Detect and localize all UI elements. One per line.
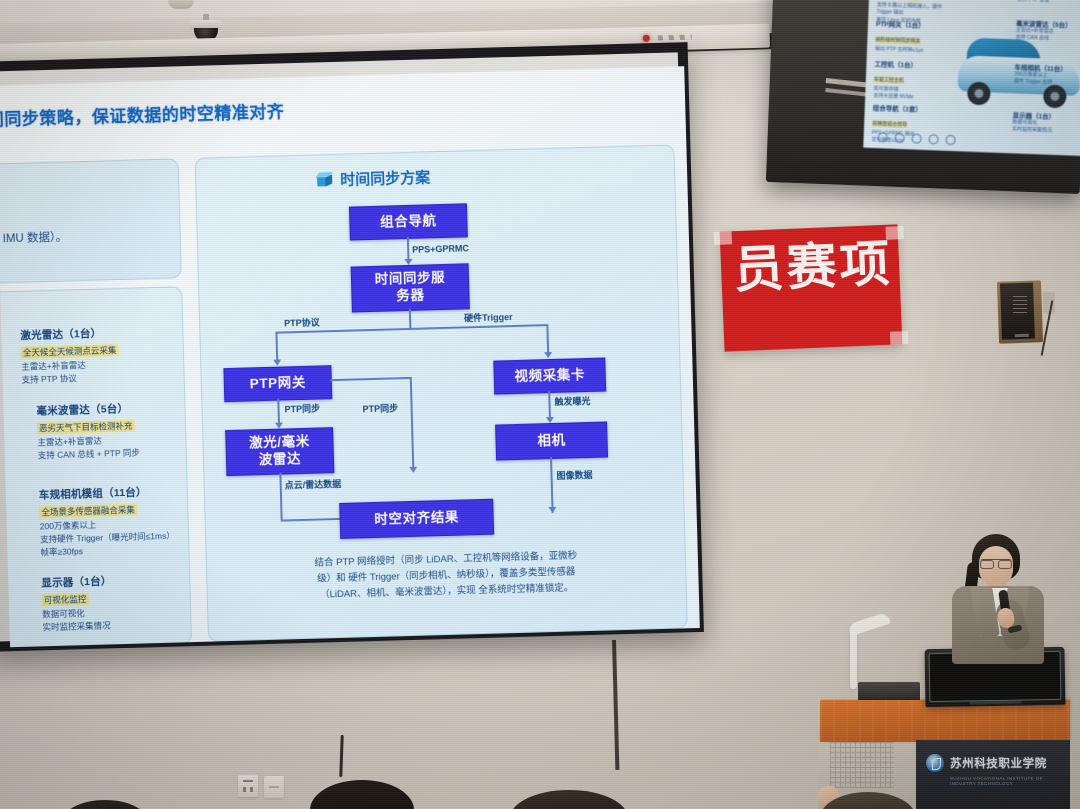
- edge-label-hardware-trigger: 硬件Trigger: [464, 310, 513, 324]
- node-video-capture-card: 视频采集卡: [493, 357, 606, 394]
- block-line: 实时监控采集情况: [1012, 127, 1080, 137]
- toolbar-icon-2[interactable]: [894, 133, 904, 143]
- swirl-logo-icon: [926, 754, 944, 772]
- node-camera: 相机: [495, 421, 608, 460]
- edge-label-trigger-exposure: 触发曝光: [554, 394, 590, 408]
- arrow-down: [544, 352, 552, 358]
- block-highlight: 纳秒级时钟同步网关: [875, 36, 920, 45]
- institution-logo-group: 苏州科技职业学院: [926, 754, 1047, 772]
- edge-label-ptp-sync-left: PTP同步: [284, 401, 320, 415]
- block-line: 支持 PTP 协议: [1017, 0, 1080, 7]
- edge-label-ptp-protocol: PTP协议: [284, 315, 320, 329]
- panel-vehicle-config: 车配置方案 激光雷达（1台） 全天候全天候测点云: [0, 286, 192, 647]
- wall-vent: [1013, 295, 1027, 313]
- wall-display: 边缘计算服务器（1台） 高算力边缘计算平台 支持 8 路以上相机接入，硬件 Tr…: [766, 0, 1080, 194]
- slide-title: 车配置与时间同步策略，保证数据的时空精准对齐: [0, 92, 459, 133]
- spec-highlight: 恶劣天气下目标检测补充: [37, 420, 135, 435]
- display-block-mmwave: 毫米波雷达（5台） 主雷达+补盲雷达 支持 CAN 总线: [1015, 17, 1080, 44]
- display-block-monitor: 显示器（1台） 数据可视化 实时监控采集情况: [1012, 109, 1080, 136]
- block-line: 输出 PTP 主时钟≤1μs: [875, 46, 947, 56]
- node-ptp-gateway: PTP网关: [223, 365, 332, 402]
- spec-camera-module: 车规相机模组（11台） 全场景多传感器融合采集 200万像素以上 支持硬件 Tr…: [39, 483, 191, 558]
- display-wheel-front: [967, 82, 991, 106]
- edge-lidar-down: [279, 473, 282, 521]
- edge-server-down: [409, 309, 411, 329]
- sync-heading: 时间同步方案: [316, 166, 431, 190]
- podium-front-panel: 苏州科技职业学院 SUZHOU VOCATIONAL INSTITUTE OF …: [916, 740, 1070, 809]
- toolbar-icon-3[interactable]: [911, 133, 921, 143]
- scenario-line-2: 点云、图像、毫米波、IMU 数据）。: [0, 225, 174, 254]
- edge-lidar-to-result: [281, 518, 341, 521]
- presentation-slide: 车配置与时间同步策略，保证数据的时空精准对齐 用场景 botaxi、无人配送车）…: [0, 66, 700, 647]
- institution-name: 苏州科技职业学院: [950, 755, 1047, 771]
- spec-highlight: 可视化监控: [42, 593, 89, 606]
- block-highlight: 车载工控主机: [874, 76, 904, 84]
- banner-tape-bottom: [890, 331, 909, 345]
- spec-highlight: 全场景多传感器融合采集: [39, 504, 137, 519]
- edge-label-image-data: 图像数据: [556, 468, 592, 482]
- panel-application-scenario: 用场景 botaxi、无人配送车）； 点云、图像、毫米波、IMU 数据）。: [0, 158, 182, 286]
- node-lidar-mmwave: 激光/毫米 波雷达: [225, 427, 334, 476]
- screenshot-root: 车配置与时间同步策略，保证数据的时空精准对齐 用场景 botaxi、无人配送车）…: [0, 0, 1080, 809]
- banner-text: 员赛项: [712, 238, 914, 296]
- toolbar-icon-5[interactable]: [945, 135, 955, 145]
- power-outlet: [238, 775, 258, 797]
- arrow-down: [409, 467, 417, 473]
- banner-tape-right: [886, 226, 905, 240]
- edge-label-pointcloud-radar: 点云/雷达数据: [285, 477, 342, 492]
- projection-screen: 车配置与时间同步策略，保证数据的时空精准对齐 用场景 botaxi、无人配送车）…: [0, 42, 704, 652]
- cube-icon: [316, 171, 333, 188]
- edge-camera-down: [550, 457, 553, 513]
- block-highlight: 高精度组合惯导: [872, 120, 907, 128]
- red-banner: 员赛项: [720, 224, 903, 351]
- node-time-sync-server: 时间同步服 务器: [351, 263, 470, 312]
- spec-mmwave: 毫米波雷达（5台） 恶劣天气下目标检测补充 主雷达+补盲雷达 支持 CAN 总线…: [36, 399, 188, 462]
- display-wheel-rear: [1043, 84, 1067, 108]
- display-block-ipc: 工控机（1台） 车载工控主机 高可靠存储 支持大容量 NVMe: [873, 58, 947, 103]
- arrow-down: [548, 507, 556, 513]
- block-highlight: 高算力边缘计算平台: [877, 0, 922, 1]
- spec-display: 显示器（1台） 可视化监控 数据可视化 实时监控采集情况: [41, 571, 193, 634]
- display-block-lidar: 激光雷达（1台） 主雷达+补盲雷达 支持 PTP 协议: [1017, 0, 1080, 7]
- roller-label: [658, 35, 692, 41]
- blank-wall-plate: [264, 776, 284, 798]
- projection-surface: 车配置与时间同步策略，保证数据的时空精准对齐 用场景 botaxi、无人配送车）…: [0, 52, 694, 641]
- toolbar-icon-1[interactable]: [877, 132, 887, 142]
- edge-label-pps-gprmc: PPS+GPRMC: [412, 243, 469, 255]
- spec-highlight: 全天候全天候测点云采集: [21, 344, 119, 359]
- presenter: [938, 534, 1056, 664]
- glasses-icon: [980, 559, 1012, 567]
- arrow-down: [273, 360, 281, 366]
- display-screen: 边缘计算服务器（1台） 高算力边缘计算平台 支持 8 路以上相机接入，硬件 Tr…: [863, 0, 1080, 156]
- power-led-icon: [643, 35, 650, 42]
- display-block-camera: 车规相机（11台） 200万像素以上 硬件 Trigger 支持: [1014, 61, 1080, 88]
- banner-tape-left: [714, 231, 733, 245]
- panel-time-sync: 时间同步方案 组合导航 PPS+GPRMC 时间同步服 务器 PTP协议: [195, 144, 688, 641]
- sync-footnote: 结合 PTP 网络授时（同步 LiDAR、工控机等网络设备，亚微秒 级）和 硬件…: [221, 546, 672, 607]
- institution-name-en: SUZHOU VOCATIONAL INSTITUTE OF INDUSTRY …: [950, 776, 1070, 786]
- display-block-ptp-gateway: PTP网关（1台） 纳秒级时钟同步网关 输出 PTP 主时钟≤1μs: [875, 18, 948, 56]
- speaker-label: [1015, 334, 1029, 337]
- sync-heading-label: 时间同步方案: [340, 166, 431, 190]
- node-combined-navigation: 组合导航: [349, 203, 468, 240]
- node-spatiotemporal-result: 时空对齐结果: [339, 499, 494, 539]
- toolbar-icon-4[interactable]: [928, 134, 938, 144]
- edge-label-ptp-sync-mid: PTP同步: [362, 401, 398, 415]
- edge-gw-to-result-h: [330, 377, 412, 381]
- laptop-hinge: [969, 701, 1021, 705]
- edge-gw-to-result-v: [410, 377, 414, 471]
- spec-lidar: 激光雷达（1台） 全天候全天候测点云采集 主雷达+补盲雷达 支持 PTP 协议: [20, 324, 172, 387]
